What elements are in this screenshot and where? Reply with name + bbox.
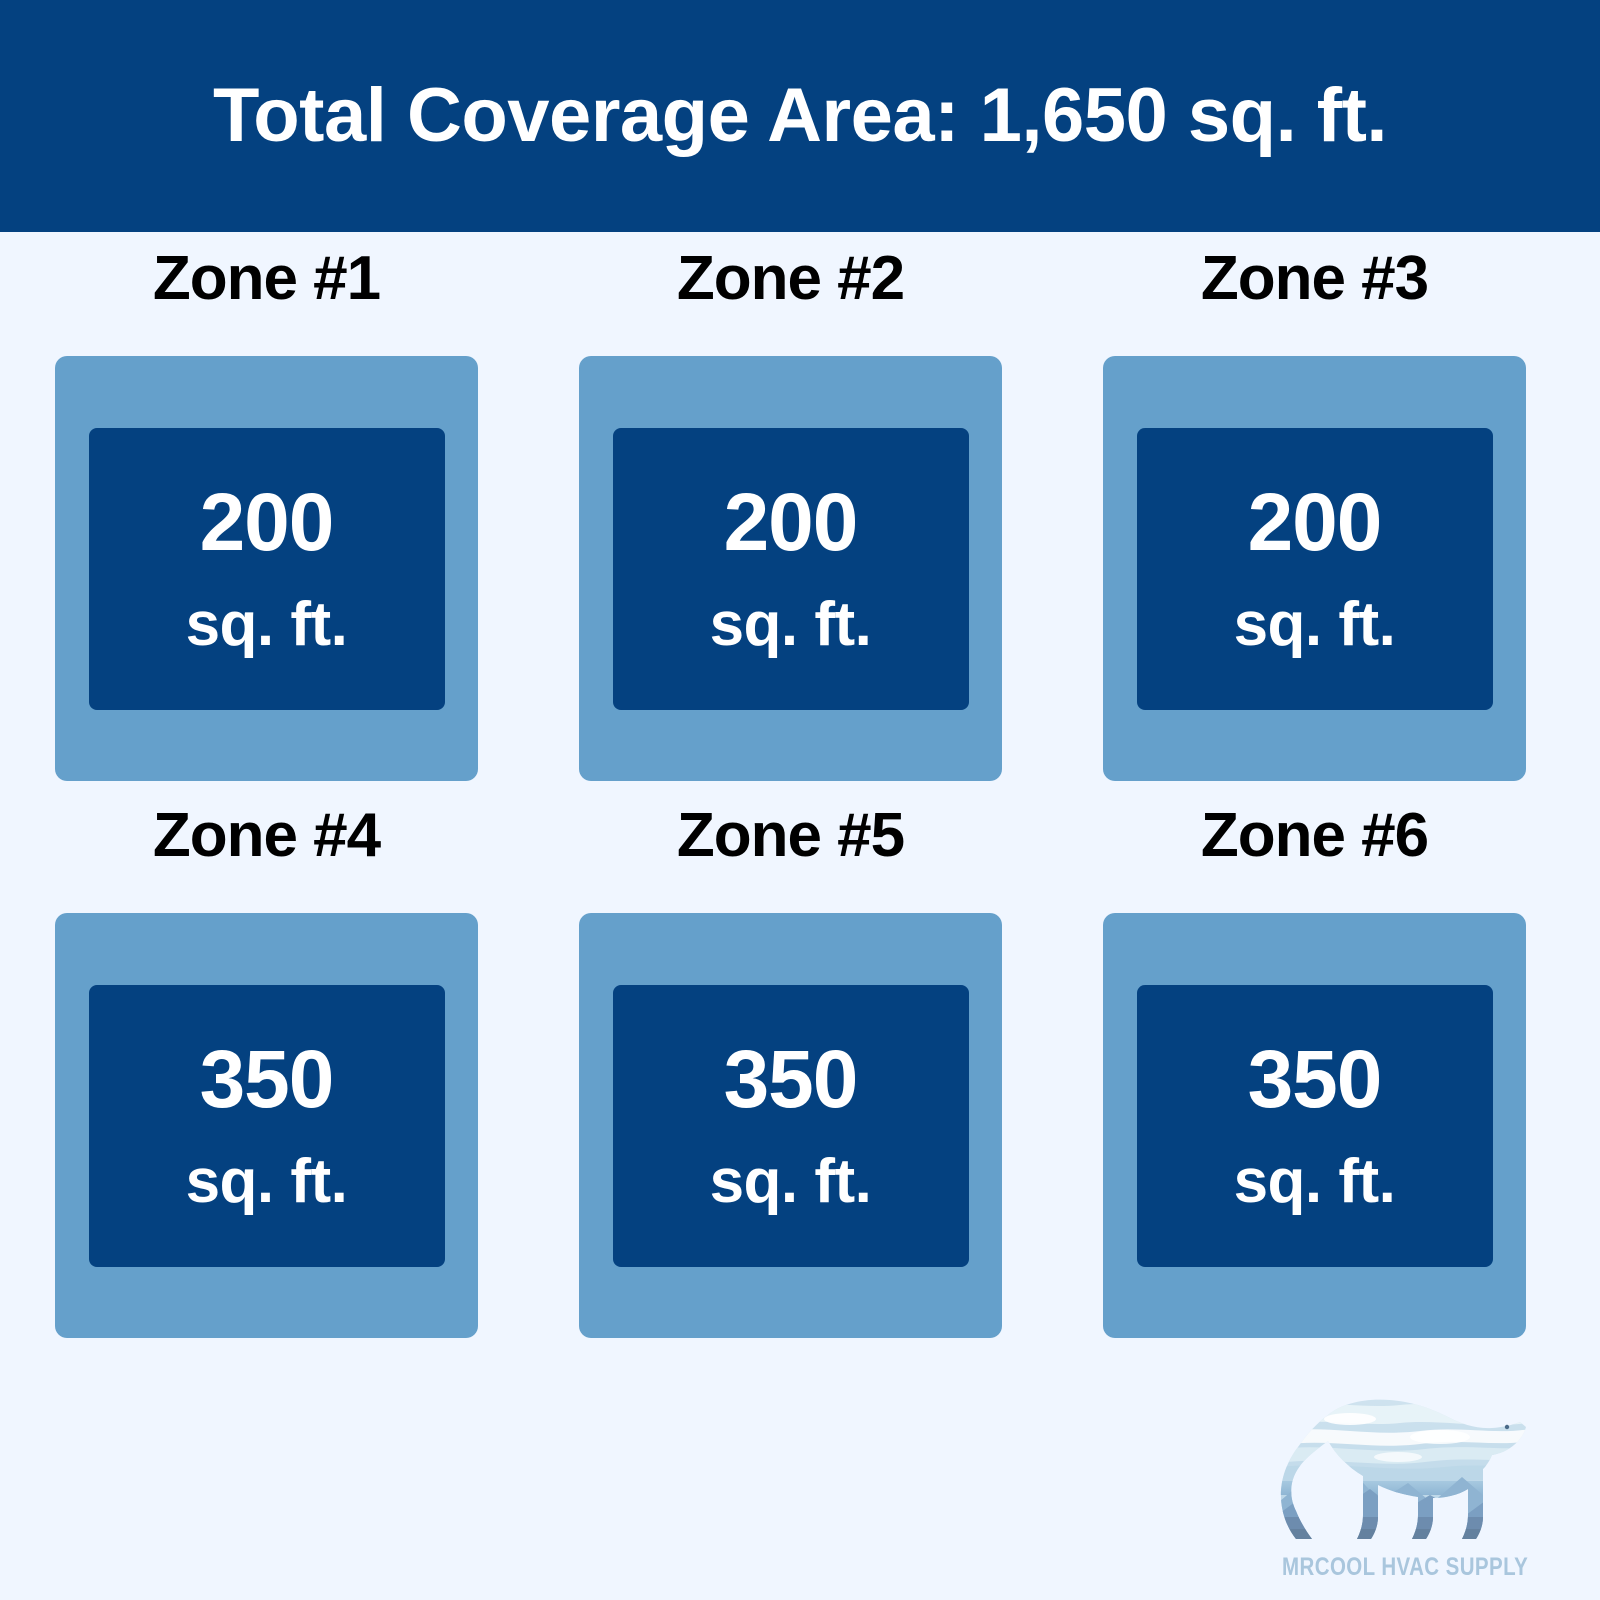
zone-label-2: Zone #2 — [677, 240, 904, 318]
zone-card-4[interactable]: 350 sq. ft. — [55, 913, 478, 1338]
zone-inner-3: 200 sq. ft. — [1137, 428, 1493, 710]
zone-inner-4: 350 sq. ft. — [89, 985, 445, 1267]
zone-unit-1: sq. ft. — [186, 594, 348, 656]
zone-value-6: 350 — [1248, 1039, 1382, 1121]
bear-eye-icon — [1505, 1425, 1509, 1429]
zone-label-1: Zone #1 — [153, 240, 380, 318]
zone-cell-1: Zone #1 200 sq. ft. — [55, 240, 478, 781]
zone-inner-2: 200 sq. ft. — [613, 428, 969, 710]
zone-card-1[interactable]: 200 sq. ft. — [55, 356, 478, 781]
zone-label-3: Zone #3 — [1201, 240, 1428, 318]
zone-label-4: Zone #4 — [153, 797, 380, 875]
zone-inner-1: 200 sq. ft. — [89, 428, 445, 710]
zone-label-5: Zone #5 — [677, 797, 904, 875]
zone-value-5: 350 — [724, 1039, 858, 1121]
zone-inner-6: 350 sq. ft. — [1137, 985, 1493, 1267]
polar-bear-icon — [1280, 1397, 1530, 1549]
zone-inner-5: 350 sq. ft. — [613, 985, 969, 1267]
zone-unit-6: sq. ft. — [1234, 1151, 1396, 1213]
zone-label-6: Zone #6 — [1201, 797, 1428, 875]
zone-unit-4: sq. ft. — [186, 1151, 348, 1213]
zone-value-4: 350 — [200, 1039, 334, 1121]
zone-unit-5: sq. ft. — [710, 1151, 872, 1213]
brand-logo: MRCOOL HVAC SUPPLY — [1245, 1397, 1565, 1582]
page-title: Total Coverage Area: 1,650 sq. ft. — [213, 78, 1387, 154]
zone-cell-5: Zone #5 350 sq. ft. — [579, 797, 1002, 1338]
zone-value-3: 200 — [1248, 482, 1382, 564]
zone-unit-2: sq. ft. — [710, 594, 872, 656]
zone-card-3[interactable]: 200 sq. ft. — [1103, 356, 1526, 781]
zone-cell-4: Zone #4 350 sq. ft. — [55, 797, 478, 1338]
logo-wordmark: MRCOOL HVAC SUPPLY — [1282, 1553, 1528, 1582]
header-band: Total Coverage Area: 1,650 sq. ft. — [0, 0, 1600, 232]
zone-value-1: 200 — [200, 482, 334, 564]
zone-cell-2: Zone #2 200 sq. ft. — [579, 240, 1002, 781]
zone-card-2[interactable]: 200 sq. ft. — [579, 356, 1002, 781]
zone-card-5[interactable]: 350 sq. ft. — [579, 913, 1002, 1338]
zone-cell-3: Zone #3 200 sq. ft. — [1103, 240, 1526, 781]
zone-grid: Zone #1 200 sq. ft. Zone #2 200 sq. ft. … — [55, 240, 1545, 1338]
zone-unit-3: sq. ft. — [1234, 594, 1396, 656]
zone-cell-6: Zone #6 350 sq. ft. — [1103, 797, 1526, 1338]
zone-value-2: 200 — [724, 482, 858, 564]
zone-card-6[interactable]: 350 sq. ft. — [1103, 913, 1526, 1338]
